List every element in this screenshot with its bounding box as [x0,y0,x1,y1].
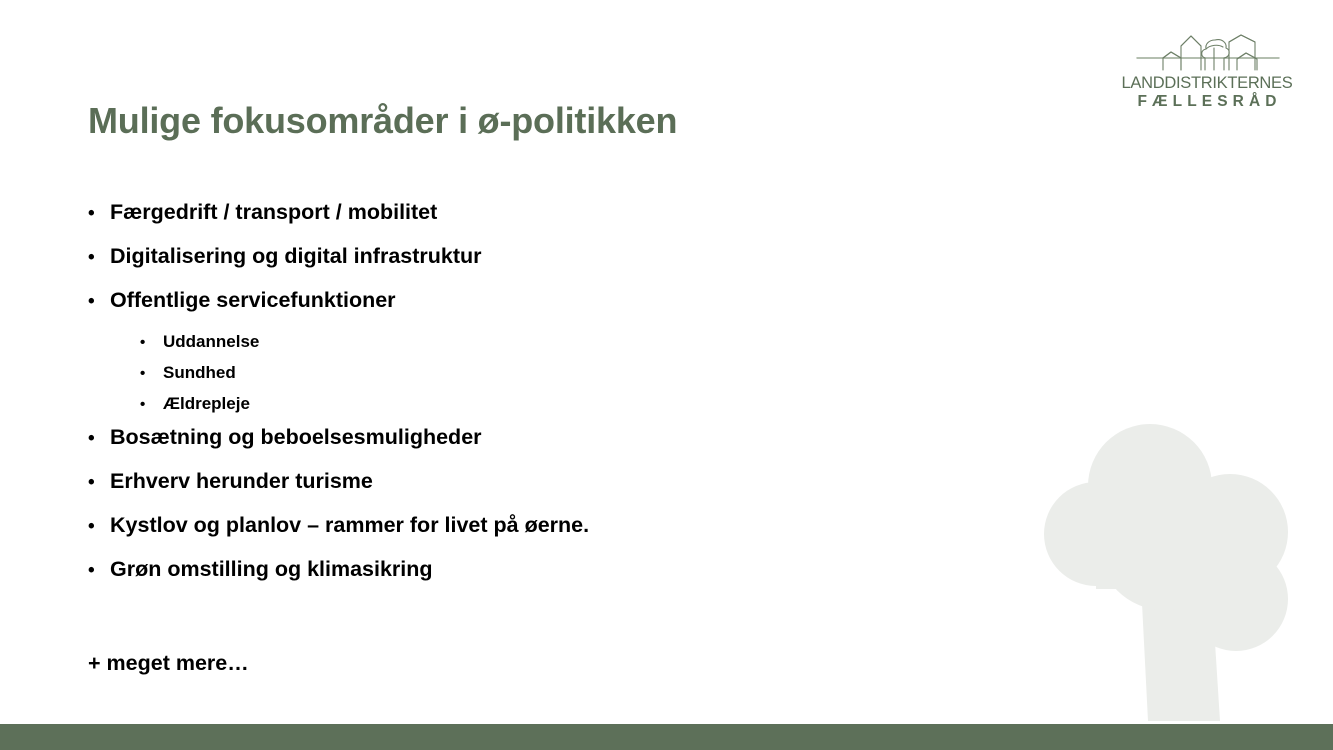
bullet-marker-icon: • [140,366,163,381]
list-item-label: Digitalisering og digital infrastruktur [110,244,482,269]
bullet-marker-icon: • [88,429,110,448]
bullet-marker-icon: • [88,204,110,223]
list-item-label: Sundhed [163,363,236,383]
bullet-marker-icon: • [88,292,110,311]
list-item: •Digitalisering og digital infrastruktur [88,244,988,288]
list-item: •Ældrepleje [88,394,988,425]
list-item: •Uddannelse [88,332,988,363]
list-item-label: Erhverv herunder turisme [110,469,373,494]
logo: LANDDISTRIKTERNES FÆLLESRÅD [1119,28,1295,110]
bullet-marker-icon: • [88,473,110,492]
list-item: •Bosætning og beboelsesmuligheder [88,425,988,469]
logo-text-line1: LANDDISTRIKTERNES [1119,75,1295,92]
list-item-label: Bosætning og beboelsesmuligheder [110,425,482,450]
closing-note: + meget mere… [88,651,249,676]
list-item: •Sundhed [88,363,988,394]
list-item-label: Uddannelse [163,332,259,352]
houses-and-tree-line-art-icon [1119,28,1295,74]
footer-accent-bar [0,724,1333,750]
list-item: •Offentlige servicefunktioner [88,288,988,332]
slide-canvas: LANDDISTRIKTERNES FÆLLESRÅD Mulige fokus… [0,0,1333,750]
logo-text-line2: FÆLLESRÅD [1119,93,1295,110]
bullet-list: •Færgedrift / transport / mobilitet•Digi… [88,200,988,601]
list-item-label: Grøn omstilling og klimasikring [110,557,433,582]
list-item-label: Ældrepleje [163,394,250,414]
list-item: •Kystlov og planlov – rammer for livet p… [88,513,988,557]
list-item: •Erhverv herunder turisme [88,469,988,513]
bullet-marker-icon: • [88,517,110,536]
bullet-marker-icon: • [140,397,163,412]
bullet-marker-icon: • [88,561,110,580]
list-item-label: Offentlige servicefunktioner [110,288,396,313]
list-item-label: Kystlov og planlov – rammer for livet på… [110,513,589,538]
page-title: Mulige fokusområder i ø-politikken [88,100,677,142]
bullet-marker-icon: • [140,335,163,350]
tree-silhouette-decoration [1044,424,1306,726]
list-item: •Grøn omstilling og klimasikring [88,557,988,601]
bullet-marker-icon: • [88,248,110,267]
list-item: •Færgedrift / transport / mobilitet [88,200,988,244]
list-item-label: Færgedrift / transport / mobilitet [110,200,437,225]
